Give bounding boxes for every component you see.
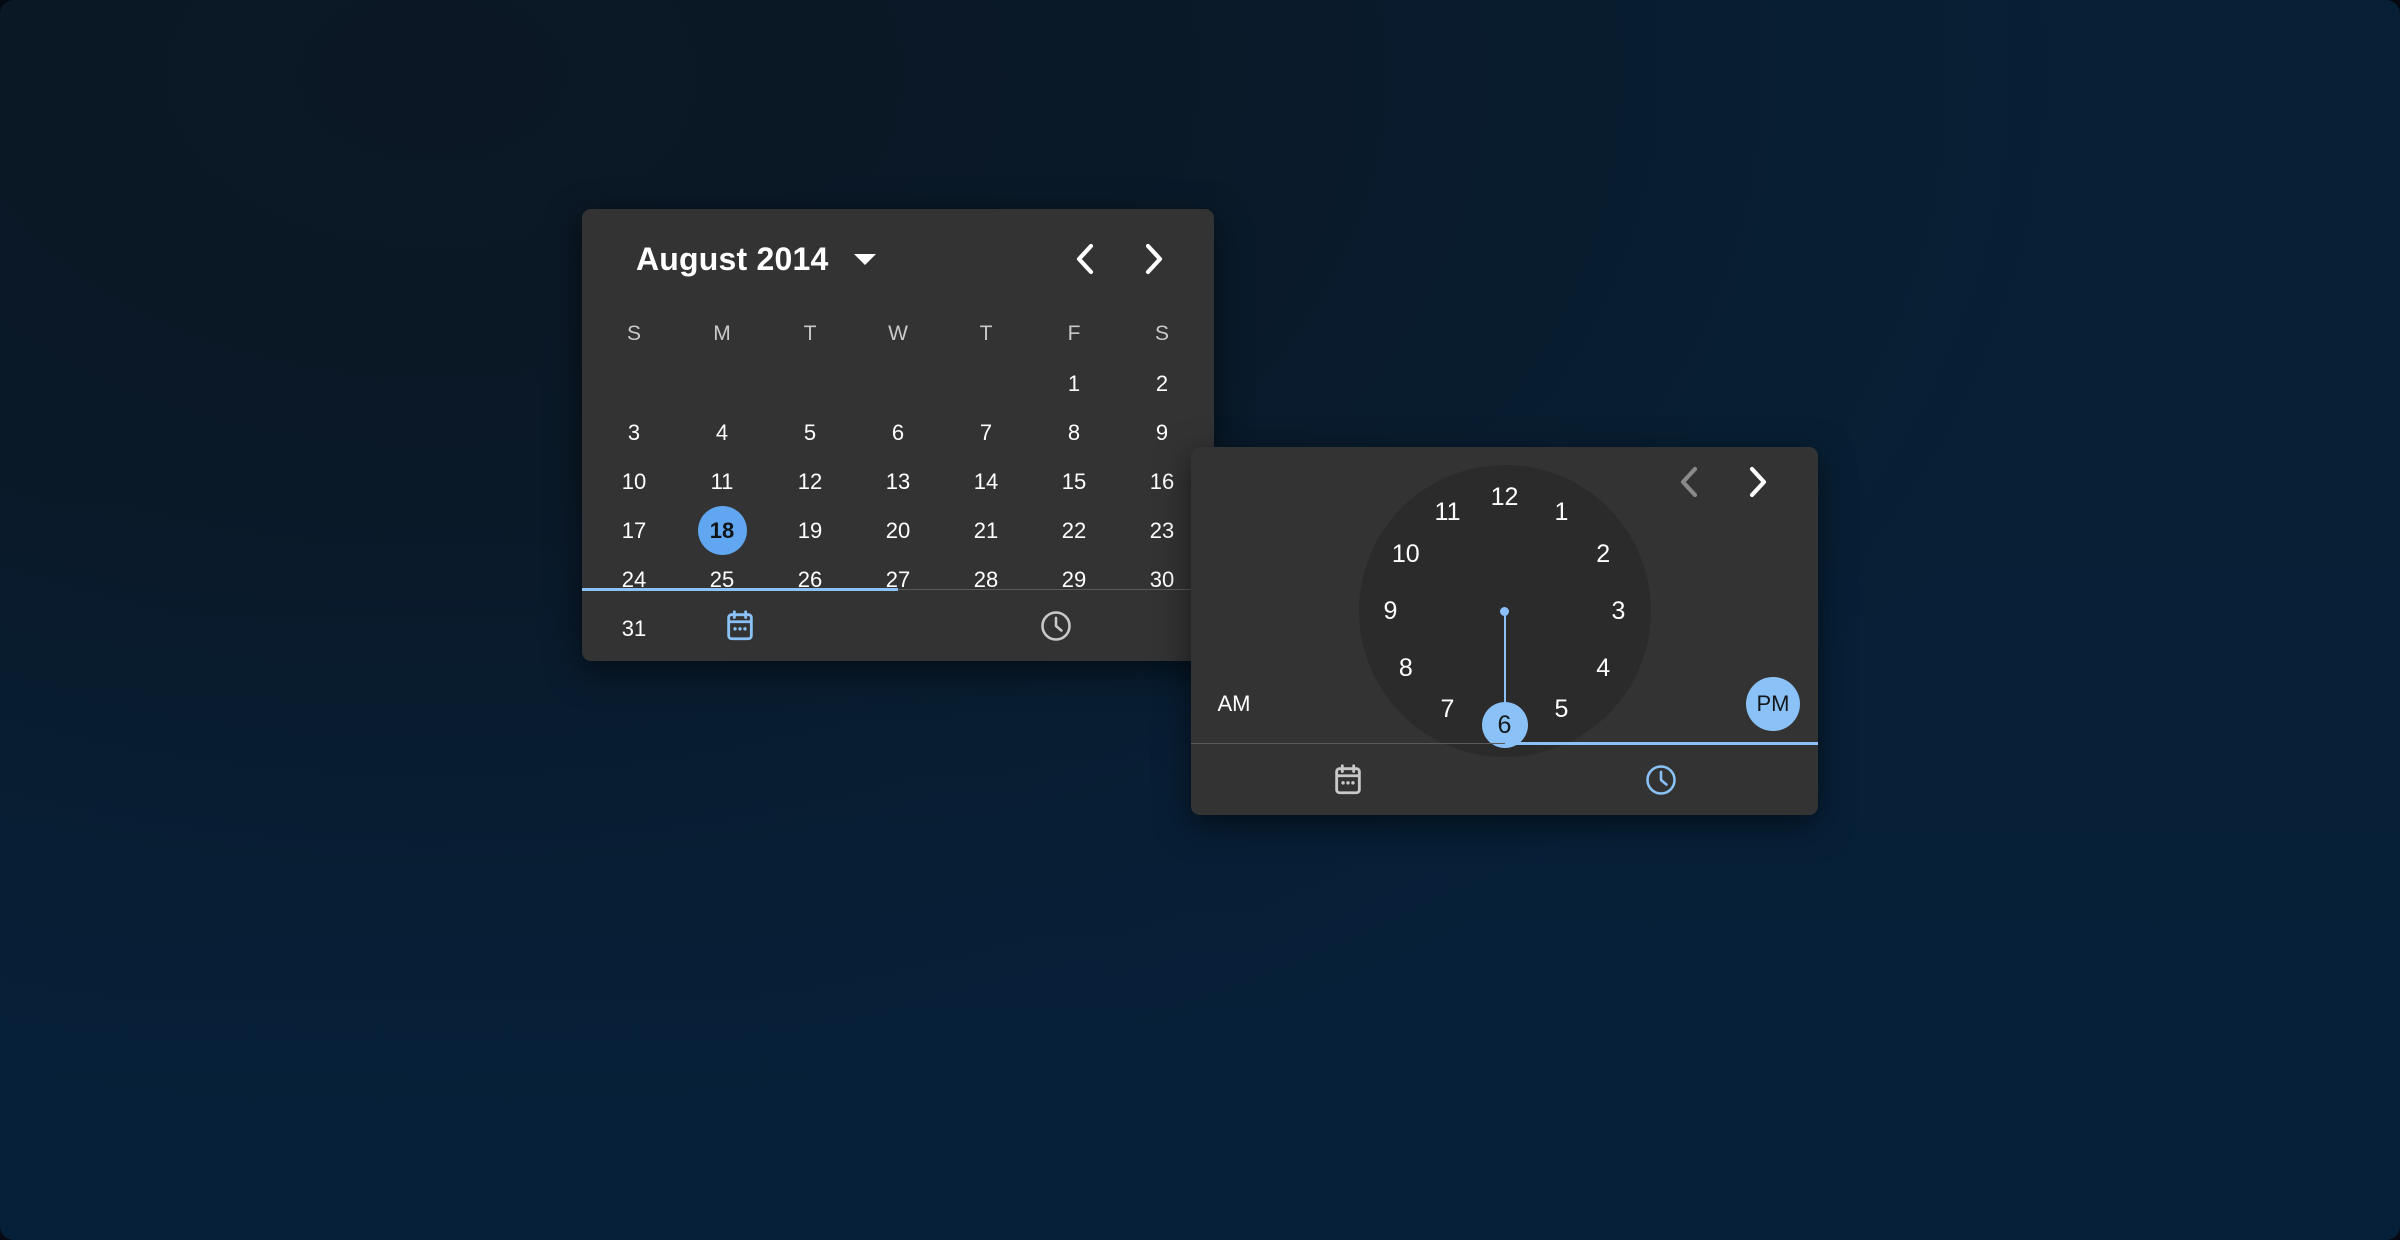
- weekday-header-row: SMTWTFS: [590, 309, 1206, 359]
- pm-button[interactable]: PM: [1746, 677, 1800, 731]
- day-cell[interactable]: 1: [1030, 359, 1118, 408]
- day-number: 14: [962, 457, 1011, 506]
- day-number: 18: [698, 506, 747, 555]
- day-cell[interactable]: 18: [678, 506, 766, 555]
- tab-date[interactable]: [1191, 744, 1505, 815]
- clock-hour-11[interactable]: 11: [1425, 489, 1471, 535]
- am-button[interactable]: AM: [1207, 677, 1261, 731]
- calendar-week-row: 3456789: [590, 408, 1206, 457]
- day-number: 5: [786, 408, 835, 457]
- day-cell[interactable]: 2: [1118, 359, 1206, 408]
- clock-hour-7[interactable]: 7: [1425, 687, 1471, 733]
- day-number: 3: [610, 408, 659, 457]
- day-number: [610, 359, 659, 408]
- day-number: 17: [610, 506, 659, 555]
- clock-hour-2[interactable]: 2: [1580, 531, 1626, 577]
- day-number: 2: [1138, 359, 1187, 408]
- clock-hour-9[interactable]: 9: [1368, 588, 1414, 634]
- day-cell-empty: [942, 359, 1030, 408]
- weekday-label: F: [1030, 309, 1118, 359]
- day-cell[interactable]: 4: [678, 408, 766, 457]
- day-number: 16: [1138, 457, 1187, 506]
- day-cell-empty: [590, 359, 678, 408]
- day-cell[interactable]: 19: [766, 506, 854, 555]
- day-cell[interactable]: 14: [942, 457, 1030, 506]
- next-month-button[interactable]: [1136, 242, 1170, 276]
- day-number: [786, 359, 835, 408]
- clock-icon: [1643, 762, 1679, 798]
- date-picker-panel: August 2014 SMTWTFS 12345678910111213141…: [582, 209, 1214, 661]
- month-year-label: August 2014: [636, 241, 828, 278]
- day-number: 20: [874, 506, 923, 555]
- calendar-week-row: 17181920212223: [590, 506, 1206, 555]
- day-number: 22: [1050, 506, 1099, 555]
- weekday-label: T: [942, 309, 1030, 359]
- day-cell-empty: [766, 359, 854, 408]
- clock-center-dot: [1500, 607, 1509, 616]
- day-number: 19: [786, 506, 835, 555]
- time-nav-group: [1672, 465, 1774, 499]
- month-year-selector[interactable]: August 2014: [636, 241, 876, 278]
- tab-time[interactable]: [1505, 744, 1819, 815]
- tab-indicator: [1505, 742, 1819, 745]
- weekday-label: M: [678, 309, 766, 359]
- clock-icon: [1038, 608, 1074, 644]
- day-number: 8: [1050, 408, 1099, 457]
- day-number: 10: [610, 457, 659, 506]
- caret-down-icon: [854, 254, 876, 265]
- day-cell[interactable]: 20: [854, 506, 942, 555]
- day-number: [962, 359, 1011, 408]
- day-cell[interactable]: 8: [1030, 408, 1118, 457]
- calendar-icon: [723, 609, 757, 643]
- day-cell[interactable]: 17: [590, 506, 678, 555]
- day-number: 12: [786, 457, 835, 506]
- prev-month-button[interactable]: [1068, 242, 1102, 276]
- day-number: 6: [874, 408, 923, 457]
- clock-hour-8[interactable]: 8: [1383, 645, 1429, 691]
- tab-indicator: [582, 588, 898, 591]
- day-cell[interactable]: 5: [766, 408, 854, 457]
- day-number: 15: [1050, 457, 1099, 506]
- time-picker-panel: 121234567891011 AM PM: [1191, 447, 1818, 815]
- day-cell-empty: [854, 359, 942, 408]
- prev-time-button[interactable]: [1672, 465, 1706, 499]
- day-cell[interactable]: 12: [766, 457, 854, 506]
- date-picker-tabbar: [582, 589, 1214, 661]
- day-number: 21: [962, 506, 1011, 555]
- date-nav-group: [1068, 242, 1170, 276]
- tab-time[interactable]: [898, 590, 1214, 661]
- day-number: 11: [698, 457, 747, 506]
- weekday-label: T: [766, 309, 854, 359]
- clock-hour-1[interactable]: 1: [1539, 489, 1585, 535]
- day-cell[interactable]: 15: [1030, 457, 1118, 506]
- clock-hour-10[interactable]: 10: [1383, 531, 1429, 577]
- tab-date[interactable]: [582, 590, 898, 661]
- weekday-label: S: [590, 309, 678, 359]
- day-number: 13: [874, 457, 923, 506]
- next-time-button[interactable]: [1740, 465, 1774, 499]
- day-number: 9: [1138, 408, 1187, 457]
- day-cell[interactable]: 7: [942, 408, 1030, 457]
- date-picker-header: August 2014: [582, 209, 1214, 309]
- day-number: 23: [1138, 506, 1187, 555]
- time-picker-body: 121234567891011 AM PM: [1191, 447, 1818, 743]
- calendar-icon: [1331, 763, 1365, 797]
- day-cell[interactable]: 6: [854, 408, 942, 457]
- day-cell[interactable]: 22: [1030, 506, 1118, 555]
- day-cell[interactable]: 3: [590, 408, 678, 457]
- weekday-label: S: [1118, 309, 1206, 359]
- day-number: [874, 359, 923, 408]
- clock-face[interactable]: 121234567891011: [1359, 465, 1651, 757]
- clock-hour-3[interactable]: 3: [1596, 588, 1642, 634]
- clock-hour-12[interactable]: 12: [1482, 474, 1528, 520]
- day-number: [698, 359, 747, 408]
- calendar-week-row: 10111213141516: [590, 457, 1206, 506]
- calendar-week-row: 12: [590, 359, 1206, 408]
- day-number: 4: [698, 408, 747, 457]
- day-cell[interactable]: 11: [678, 457, 766, 506]
- day-cell-empty: [678, 359, 766, 408]
- day-cell[interactable]: 21: [942, 506, 1030, 555]
- time-picker-tabbar: [1191, 743, 1818, 815]
- weekday-label: W: [854, 309, 942, 359]
- day-number: 1: [1050, 359, 1099, 408]
- day-number: 7: [962, 408, 1011, 457]
- clock-hour-5[interactable]: 5: [1539, 687, 1585, 733]
- clock-hour-4[interactable]: 4: [1580, 645, 1626, 691]
- day-cell[interactable]: 13: [854, 457, 942, 506]
- day-cell[interactable]: 10: [590, 457, 678, 506]
